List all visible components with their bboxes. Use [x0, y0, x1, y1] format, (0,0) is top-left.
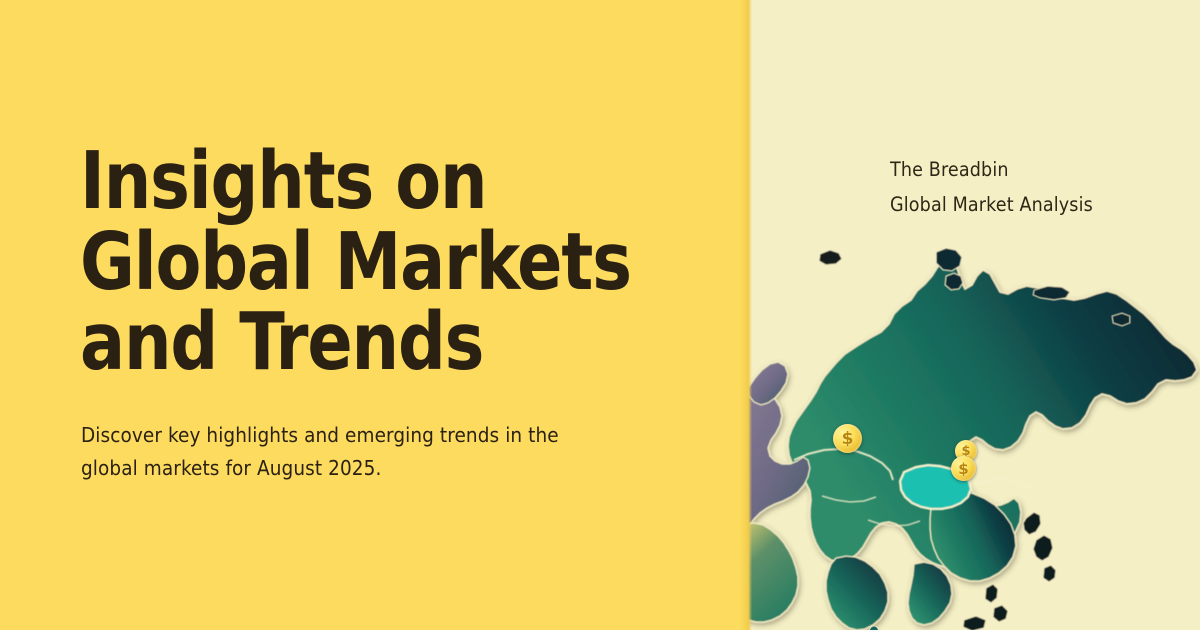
coin-marker-west-icon: $: [833, 424, 862, 453]
brand-tagline: Global Market Analysis: [890, 188, 1093, 223]
page-title: Insights on Global Markets and Trends: [80, 141, 700, 383]
coin-marker-east-lower-icon: $: [951, 456, 976, 481]
brand-name: The Breadbin: [890, 153, 1093, 188]
eurasia-map: [718, 228, 1200, 630]
headline-block: Insights on Global Markets and Trends: [80, 141, 740, 383]
brand-block: The Breadbin Global Market Analysis: [890, 153, 1093, 222]
page-subtitle: Discover key highlights and emerging tre…: [81, 419, 711, 485]
subtitle-block: Discover key highlights and emerging tre…: [81, 419, 711, 485]
poster-canvas: $ $ $ Insights on Global Markets and Tre…: [0, 0, 1200, 630]
